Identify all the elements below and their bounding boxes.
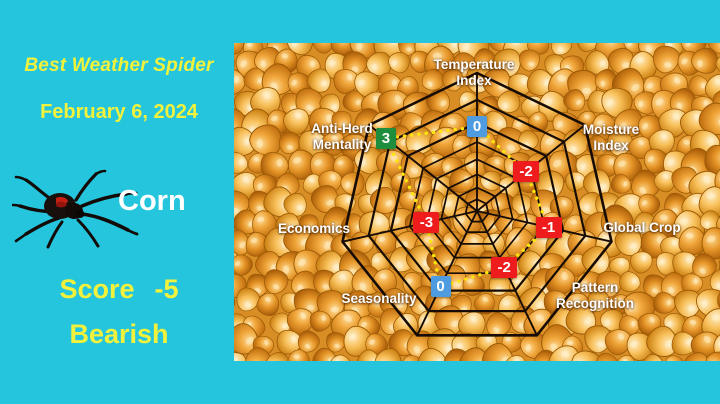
value-badge-temperature-index: 0: [467, 116, 487, 137]
score-row: Score-5: [8, 275, 230, 305]
radar-chart-panel: Temperature Index Moisture Index Global …: [234, 43, 720, 361]
slide-canvas: Best Weather Spider February 6, 2024: [0, 0, 720, 404]
value-badge-seasonality: 0: [431, 276, 451, 297]
value-badge-global-crop: -1: [536, 217, 562, 238]
commodity-name: Corn: [118, 186, 234, 218]
value-badge-economics: -3: [413, 212, 439, 233]
score-label: Score: [59, 274, 134, 304]
report-date: February 6, 2024: [8, 101, 230, 123]
value-badge-pattern-recognition: -2: [491, 257, 517, 278]
radar-web-graphic: [234, 43, 720, 361]
value-badge-moisture-index: -2: [513, 161, 539, 182]
page-title: Best Weather Spider: [8, 56, 230, 77]
score-value: -5: [155, 274, 179, 304]
info-panel: Best Weather Spider February 6, 2024: [0, 0, 234, 404]
sentiment-label: Bearish: [8, 320, 230, 350]
value-badge-anti-herd-mentality: 3: [376, 128, 396, 149]
